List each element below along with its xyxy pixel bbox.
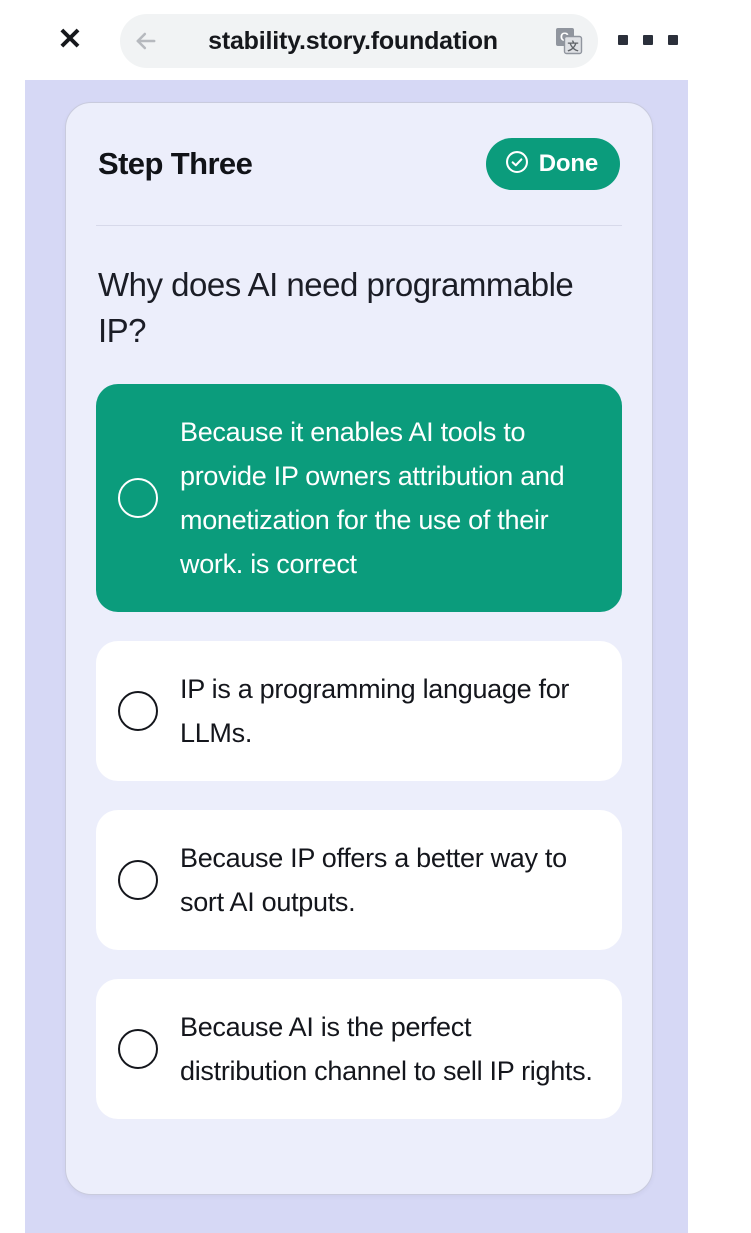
web-page-viewport: Step Three Done Why does AI need program… — [25, 80, 688, 1233]
svg-text:文: 文 — [568, 39, 580, 53]
question-text: Why does AI need programmable IP? — [66, 226, 652, 354]
card-header: Step Three Done — [66, 103, 652, 225]
check-circle-icon — [504, 149, 530, 180]
answer-option-label: Because AI is the perfect distribution c… — [180, 1005, 596, 1093]
answer-option-label: Because IP offers a better way to sort A… — [180, 836, 596, 924]
answer-option-label: IP is a programming language for LLMs. — [180, 667, 596, 755]
radio-button-icon[interactable] — [118, 478, 158, 518]
google-translate-icon[interactable]: G 文 — [540, 14, 598, 68]
quiz-card: Step Three Done Why does AI need program… — [65, 102, 653, 1195]
url-text: stability.story.foundation — [172, 27, 540, 56]
answer-option-1[interactable]: Because it enables AI tools to provide I… — [96, 384, 622, 612]
menu-dot — [668, 35, 678, 45]
radio-button-icon[interactable] — [118, 860, 158, 900]
answer-option-4[interactable]: Because AI is the perfect distribution c… — [96, 979, 622, 1119]
done-status-badge[interactable]: Done — [486, 138, 620, 190]
address-bar[interactable]: stability.story.foundation G 文 — [120, 14, 598, 68]
answer-option-2[interactable]: IP is a programming language for LLMs. — [96, 641, 622, 781]
answer-option-label: Because it enables AI tools to provide I… — [180, 410, 596, 586]
done-label: Done — [539, 150, 598, 178]
radio-button-icon[interactable] — [118, 691, 158, 731]
browser-toolbar: ✕ stability.story.foundation G 文 — [0, 0, 751, 80]
close-icon[interactable]: ✕ — [52, 22, 88, 58]
page-title: Step Three — [98, 146, 252, 182]
menu-dot — [618, 35, 628, 45]
radio-button-icon[interactable] — [118, 1029, 158, 1069]
back-arrow-icon[interactable] — [120, 14, 172, 68]
overflow-menu-icon[interactable] — [618, 28, 678, 52]
menu-dot — [643, 35, 653, 45]
answer-option-3[interactable]: Because IP offers a better way to sort A… — [96, 810, 622, 950]
answer-options-list: Because it enables AI tools to provide I… — [66, 354, 652, 1119]
